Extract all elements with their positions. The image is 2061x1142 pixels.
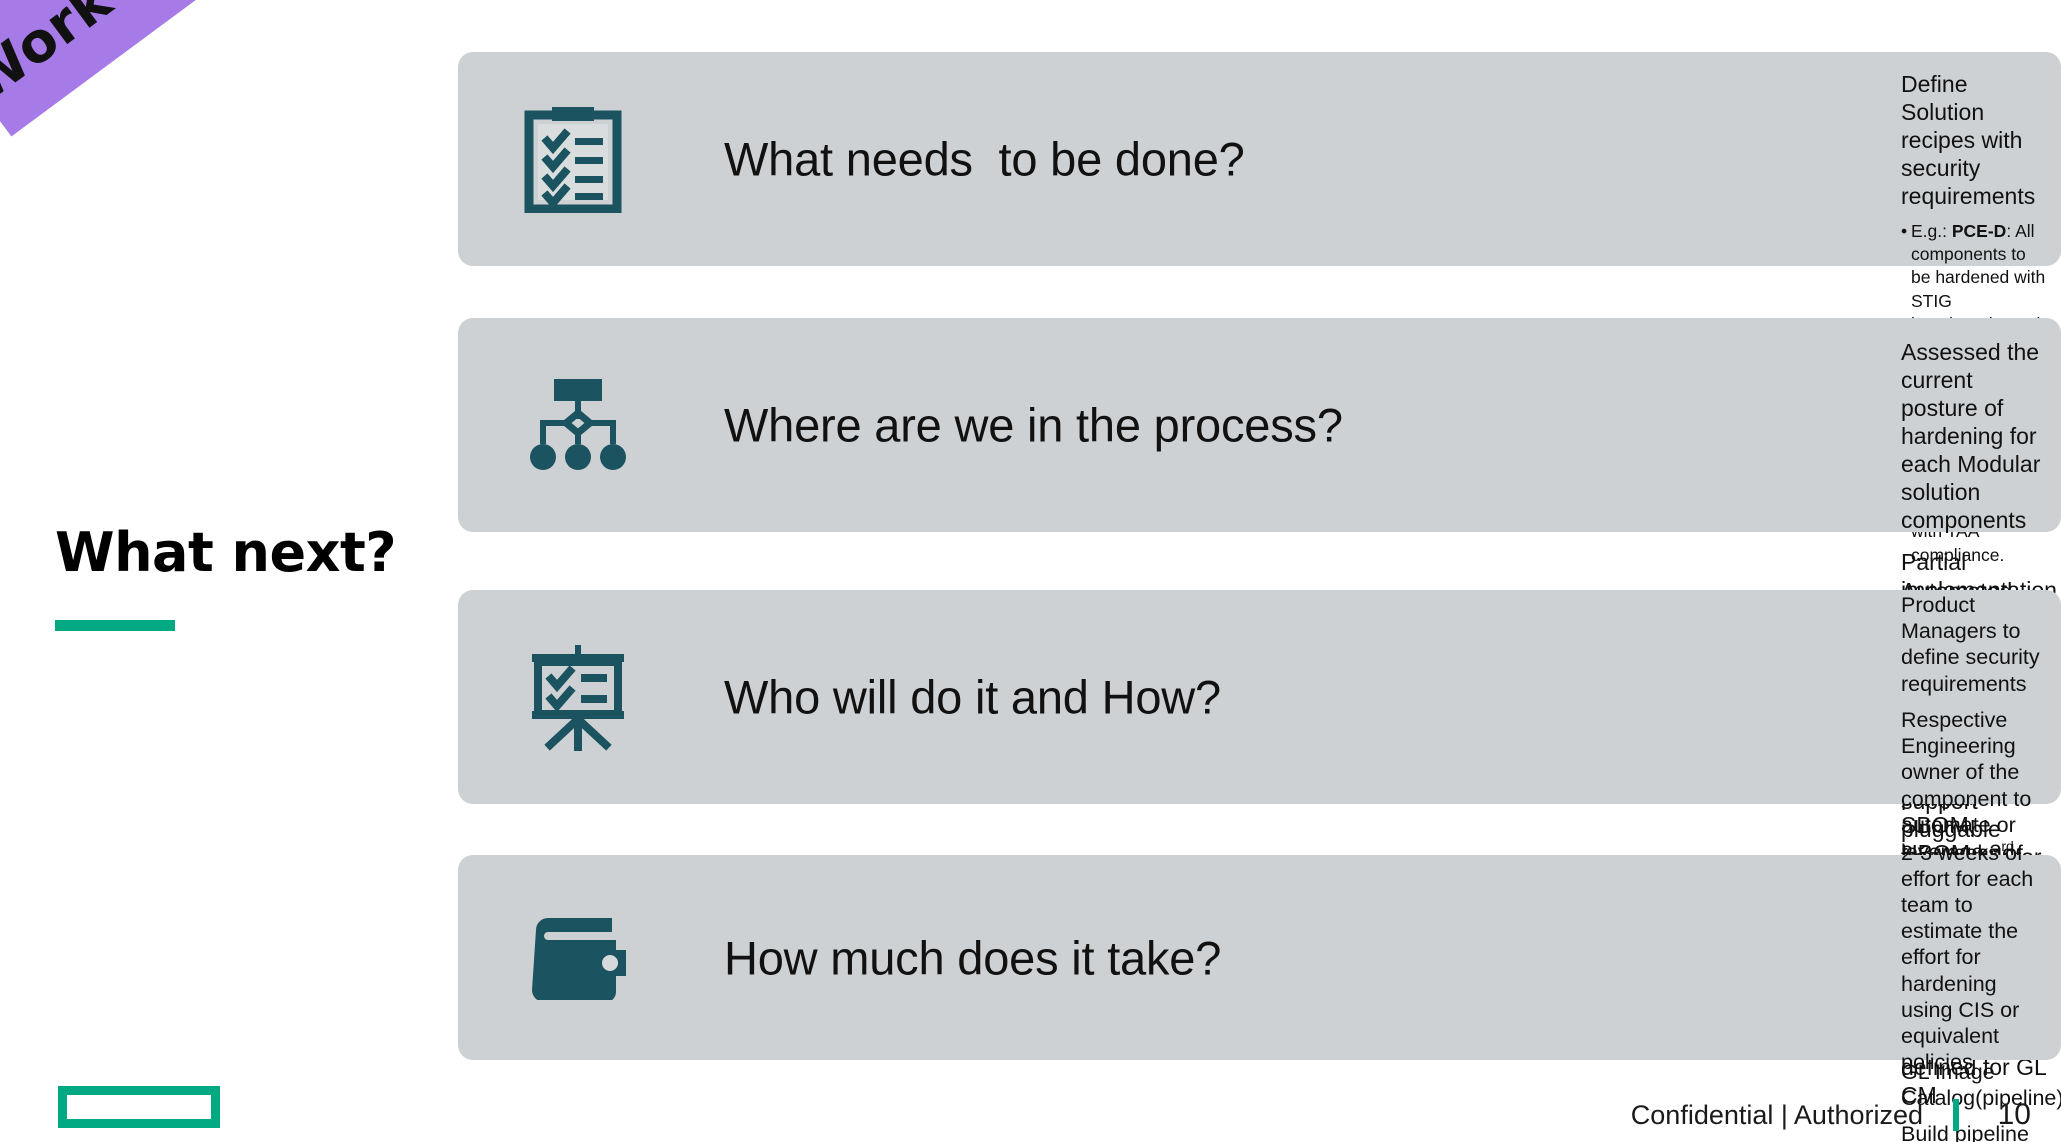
bullet-item: Define Solution recipes with security re… bbox=[1901, 70, 2047, 210]
presentation-board-icon bbox=[523, 642, 633, 752]
card-what-needs-to-be-done: What needs to be done? Define Solution r… bbox=[458, 52, 2061, 266]
wallet-icon bbox=[523, 903, 633, 1013]
hpe-logo bbox=[58, 1086, 220, 1128]
card-heading: How much does it take? bbox=[724, 930, 1221, 985]
card-heading: Where are we in the process? bbox=[724, 398, 1343, 453]
card-bullet-list: 2-3 weeks of effort for each team to est… bbox=[1901, 840, 2047, 1076]
slide-canvas: What next? bbox=[0, 0, 2061, 1142]
left-column: What next? bbox=[55, 525, 415, 631]
title-accent-rule bbox=[55, 620, 175, 631]
footer-classification: Confidential | Authorized bbox=[1631, 1100, 1923, 1131]
bullet-sub-prefix: E.g.: bbox=[1911, 221, 1952, 241]
card-heading: What needs to be done? bbox=[724, 132, 1245, 187]
bullet-bold-pce-d: PCE-D bbox=[1952, 221, 2006, 241]
bullet-item: Product Managers to define security requ… bbox=[1901, 592, 2047, 697]
footer-page-number: 10 bbox=[1989, 1098, 2031, 1132]
page-title: What next? bbox=[55, 525, 415, 582]
org-chart-icon bbox=[523, 370, 633, 480]
card-heading: Who will do it and How? bbox=[724, 670, 1221, 725]
clipboard-checklist-icon bbox=[518, 104, 628, 214]
watermark-label: Work under Progress bbox=[0, 0, 527, 115]
bullet-item: Assessed the current posture of hardenin… bbox=[1901, 338, 2047, 534]
card-where-are-we-in-the-process: Where are we in the process? Assessed th… bbox=[458, 318, 2061, 532]
card-how-much-does-it-take: How much does it take? 2-3 weeks of effo… bbox=[458, 855, 2061, 1060]
footer-separator bbox=[1953, 1099, 1959, 1131]
footer: Confidential | Authorized 10 bbox=[1631, 1098, 2031, 1132]
bullet-item: 2-3 weeks of effort for each team to est… bbox=[1901, 840, 2047, 1076]
card-who-will-do-it-and-how: Who will do it and How? Product Managers… bbox=[458, 590, 2061, 804]
